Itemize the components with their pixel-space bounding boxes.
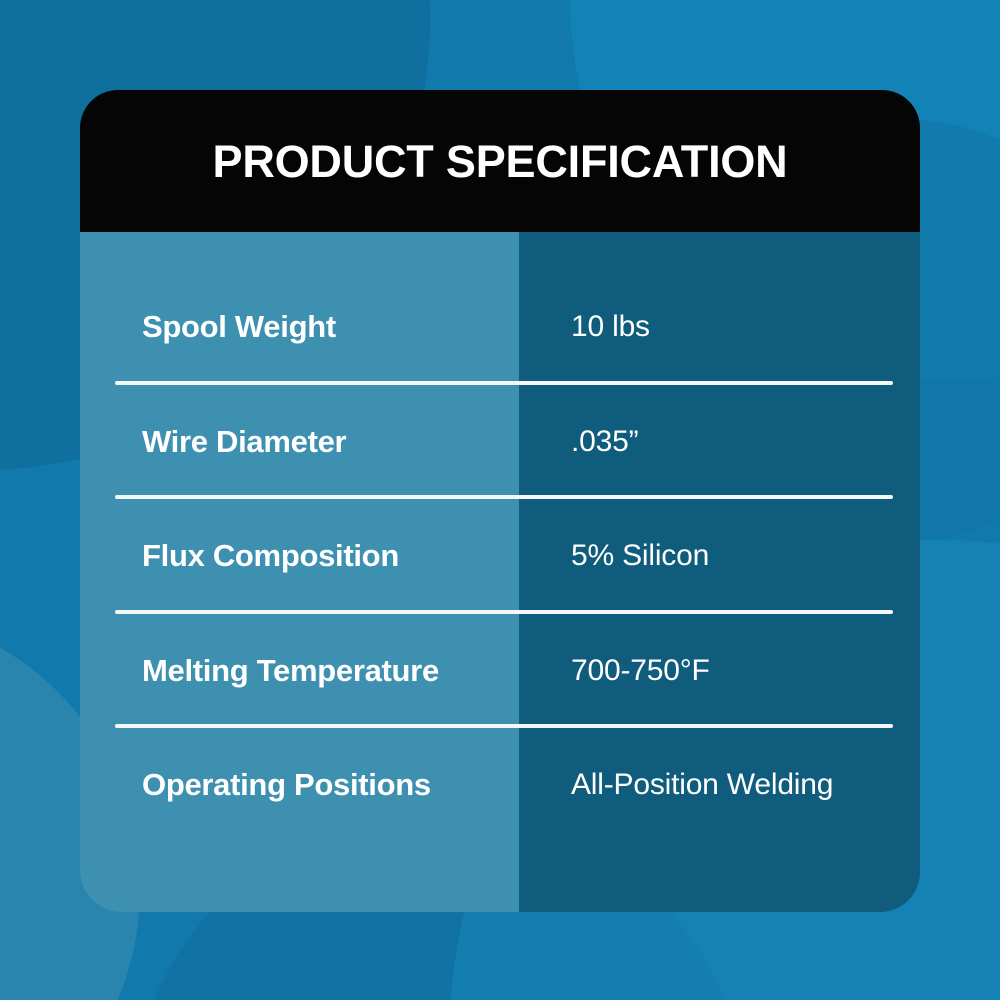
spec-label: Operating Positions — [80, 767, 519, 803]
spec-label: Spool Weight — [80, 309, 519, 345]
specification-table: Spool Weight 10 lbs Wire Diameter .035” … — [80, 232, 920, 912]
card-header: PRODUCT SPECIFICATION — [80, 90, 920, 232]
specification-card: PRODUCT SPECIFICATION Spool Weight 10 lb… — [80, 90, 920, 912]
table-row: Wire Diameter .035” — [80, 385, 920, 500]
page-title: PRODUCT SPECIFICATION — [213, 139, 788, 184]
spec-value: 5% Silicon — [519, 539, 920, 573]
table-row: Flux Composition 5% Silicon — [80, 499, 920, 614]
spec-value: All-Position Welding — [519, 768, 920, 802]
spec-label: Flux Composition — [80, 538, 519, 574]
spec-label: Wire Diameter — [80, 424, 519, 460]
spec-value: .035” — [519, 425, 920, 459]
table-row: Operating Positions All-Position Welding — [80, 728, 920, 843]
spec-value: 700-750°F — [519, 654, 920, 688]
spec-label: Melting Temperature — [80, 653, 519, 689]
table-row: Spool Weight 10 lbs — [80, 270, 920, 385]
product-specification-graphic: PRODUCT SPECIFICATION Spool Weight 10 lb… — [0, 0, 1000, 1000]
table-row: Melting Temperature 700-750°F — [80, 614, 920, 729]
table-rows: Spool Weight 10 lbs Wire Diameter .035” … — [80, 232, 920, 912]
spec-value: 10 lbs — [519, 310, 920, 344]
